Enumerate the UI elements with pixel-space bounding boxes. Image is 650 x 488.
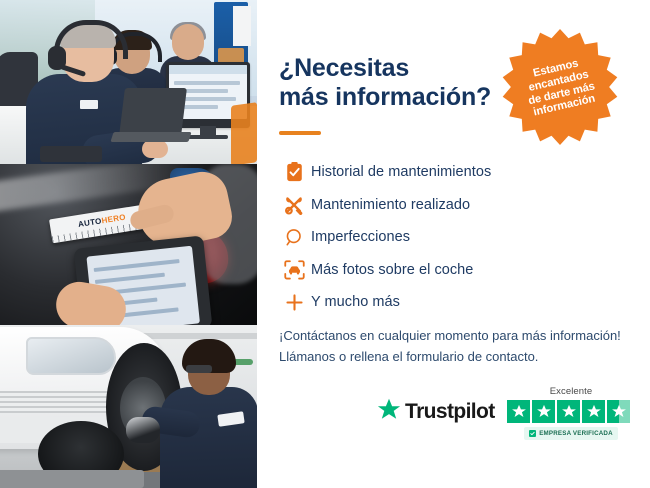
tools-cross-icon xyxy=(277,195,311,215)
feature-item-fotos[interactable]: Más fotos sobre el coche xyxy=(277,254,577,287)
contact-line-1: ¡Contáctanos en cualquier momento para m… xyxy=(279,325,639,346)
magnifier-icon xyxy=(277,228,311,247)
feature-item-mas[interactable]: Y mucho más xyxy=(277,286,577,319)
star-5-half-icon xyxy=(607,400,630,423)
verified-badge: EMPRESA VERIFICADA xyxy=(524,427,618,440)
photo-column: AUTOHERO xyxy=(0,0,257,488)
trustpilot-star-icon xyxy=(377,398,401,426)
trustpilot-wordmark: Trustpilot xyxy=(405,400,495,424)
promo-card: AUTOHERO xyxy=(0,0,650,488)
call-center-agents-photo xyxy=(0,0,257,164)
feature-label: Historial de mantenimientos xyxy=(311,164,491,180)
car-inspection-ruler-photo: AUTOHERO xyxy=(0,164,257,325)
car-lift xyxy=(0,470,144,488)
star-1-icon xyxy=(507,400,530,423)
contact-line-2: Llámanos o rellena el formulario de cont… xyxy=(279,346,639,367)
wall-paper xyxy=(233,6,251,46)
plus-icon xyxy=(277,293,311,312)
feature-label: Más fotos sobre el coche xyxy=(311,262,473,278)
page-title-line-1: ¿Necesitas xyxy=(279,54,519,83)
car-headlight xyxy=(26,337,116,375)
trustpilot-rating: Excelente xyxy=(507,386,635,440)
star-3-icon xyxy=(557,400,580,423)
page-title: ¿Necesitas más información? xyxy=(279,54,519,113)
contact-paragraph: ¡Contáctanos en cualquier momento para m… xyxy=(279,325,639,367)
desk-tablet xyxy=(40,146,102,162)
feature-label: Mantenimiento realizado xyxy=(311,197,470,213)
feature-item-historial[interactable]: Historial de mantenimientos xyxy=(277,156,577,189)
rating-label: Excelente xyxy=(507,386,635,397)
car-grille xyxy=(0,391,112,413)
content-panel: ¿Necesitas más información? Estamos xyxy=(257,0,650,488)
feature-list: Historial de mantenimientos M xyxy=(277,156,577,319)
car-photo-frame-icon xyxy=(277,260,311,280)
support-badge: Estamos encantados de darte más informac… xyxy=(500,27,620,147)
verified-check-icon xyxy=(529,430,536,437)
title-divider xyxy=(279,131,321,135)
clipboard-check-icon xyxy=(277,162,311,182)
feature-item-imperfecciones[interactable]: Imperfecciones xyxy=(277,221,577,254)
trustpilot-widget[interactable]: Trustpilot Excelente xyxy=(377,386,637,448)
technician-wheel-photo xyxy=(0,325,257,488)
garage-shelf xyxy=(140,333,257,339)
verified-label: EMPRESA VERIFICADA xyxy=(539,430,613,437)
trustpilot-logo[interactable]: Trustpilot xyxy=(377,398,495,426)
feature-label: Imperfecciones xyxy=(311,229,410,245)
laptop xyxy=(112,88,186,144)
page-title-line-2: más información? xyxy=(279,83,519,112)
star-2-icon xyxy=(532,400,555,423)
orange-equipment xyxy=(231,102,257,164)
technician xyxy=(160,343,257,488)
feature-label: Y mucho más xyxy=(311,294,400,310)
star-rating xyxy=(507,400,635,423)
star-4-icon xyxy=(582,400,605,423)
feature-item-mantenimiento[interactable]: Mantenimiento realizado xyxy=(277,189,577,222)
